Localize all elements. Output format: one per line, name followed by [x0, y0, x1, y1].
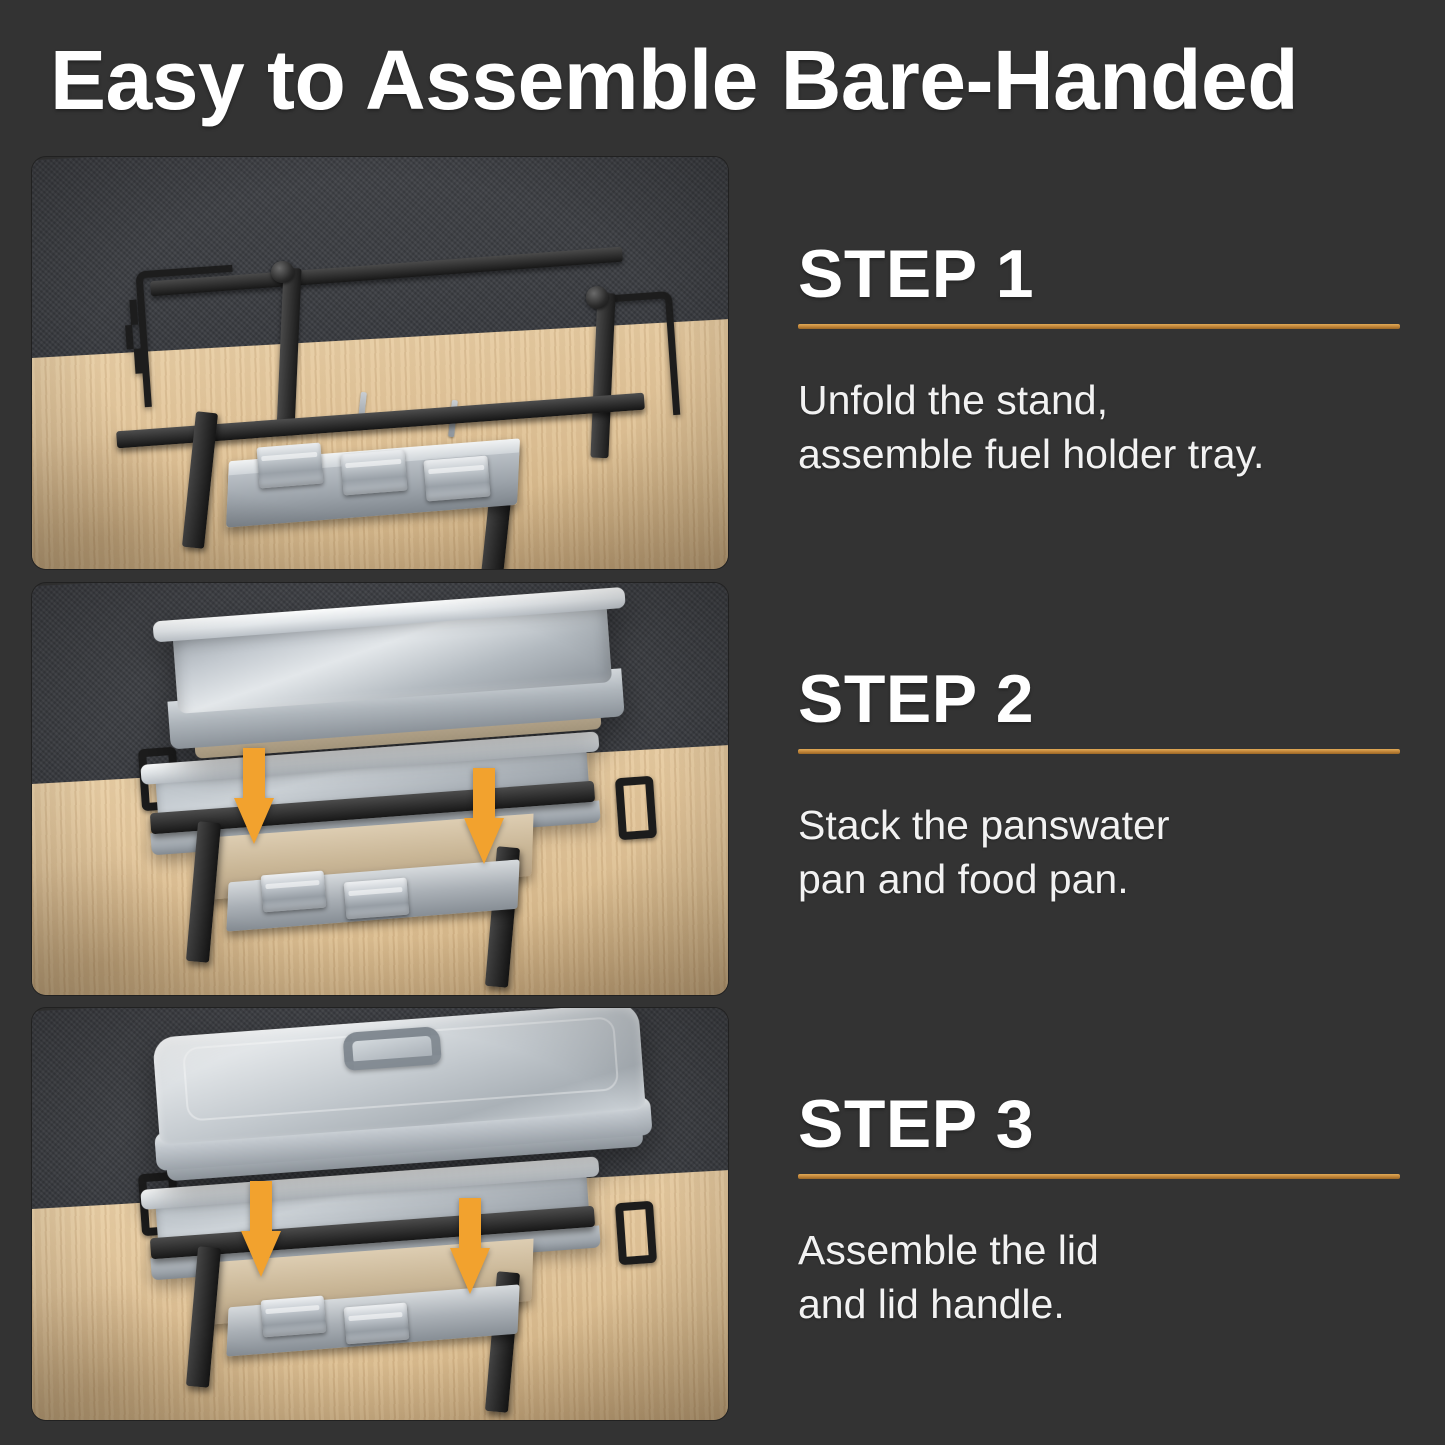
stand-right-hinge: [586, 286, 608, 308]
fuel-can-1: [260, 871, 325, 913]
page-title: Easy to Assemble Bare-Handed: [50, 30, 1410, 130]
scene-2: [32, 583, 728, 995]
assembled-base-illustration: [32, 583, 728, 995]
stand-left-side-arm: [276, 268, 301, 433]
down-arrow-right-icon: [464, 768, 504, 864]
chafing-stand-illustration: [32, 157, 728, 569]
fuel-can-3: [424, 455, 491, 501]
stand-left-hinge: [271, 261, 293, 283]
step-3-text-block: STEP 3 Assemble the lid and lid handle.: [798, 1088, 1410, 1331]
down-arrow-left-icon: [241, 1181, 281, 1277]
fuel-can-2: [344, 877, 409, 919]
down-arrow-right-icon: [450, 1198, 490, 1294]
step-3-description: Assemble the lid and lid handle.: [798, 1223, 1410, 1331]
step-1-heading: STEP 1: [798, 238, 1410, 310]
step-2-description: Stack the panswater pan and food pan.: [798, 798, 1410, 906]
step-1-image: [32, 157, 728, 569]
fuel-can-1: [260, 1296, 325, 1338]
step-2-heading: STEP 2: [798, 663, 1410, 735]
fuel-can-1: [257, 443, 324, 489]
step-2-divider: [798, 749, 1400, 754]
frame-handle-right: [615, 775, 657, 839]
step-2-image: [32, 583, 728, 995]
step-1-description: Unfold the stand, assemble fuel holder t…: [798, 373, 1410, 481]
stand-right-side-arm: [591, 293, 616, 458]
scene-1: [32, 157, 728, 569]
step-3-image: [32, 1008, 728, 1420]
step-1-divider: [798, 324, 1400, 329]
infographic-page: Easy to Assemble Bare-Handed: [0, 0, 1445, 1445]
fuel-can-2: [340, 449, 407, 495]
step-1-text-block: STEP 1 Unfold the stand, assemble fuel h…: [798, 238, 1410, 481]
down-arrow-left-icon: [234, 748, 274, 844]
scene-3: [32, 1008, 728, 1420]
frame-handle-right: [615, 1200, 657, 1264]
lid-handle: [343, 1026, 443, 1072]
step-3-heading: STEP 3: [798, 1088, 1410, 1160]
step-2-text-block: STEP 2 Stack the panswater pan and food …: [798, 663, 1410, 906]
assembled-chafer-illustration: [32, 1008, 728, 1420]
fuel-can-2: [344, 1302, 409, 1344]
step-3-divider: [798, 1174, 1400, 1179]
